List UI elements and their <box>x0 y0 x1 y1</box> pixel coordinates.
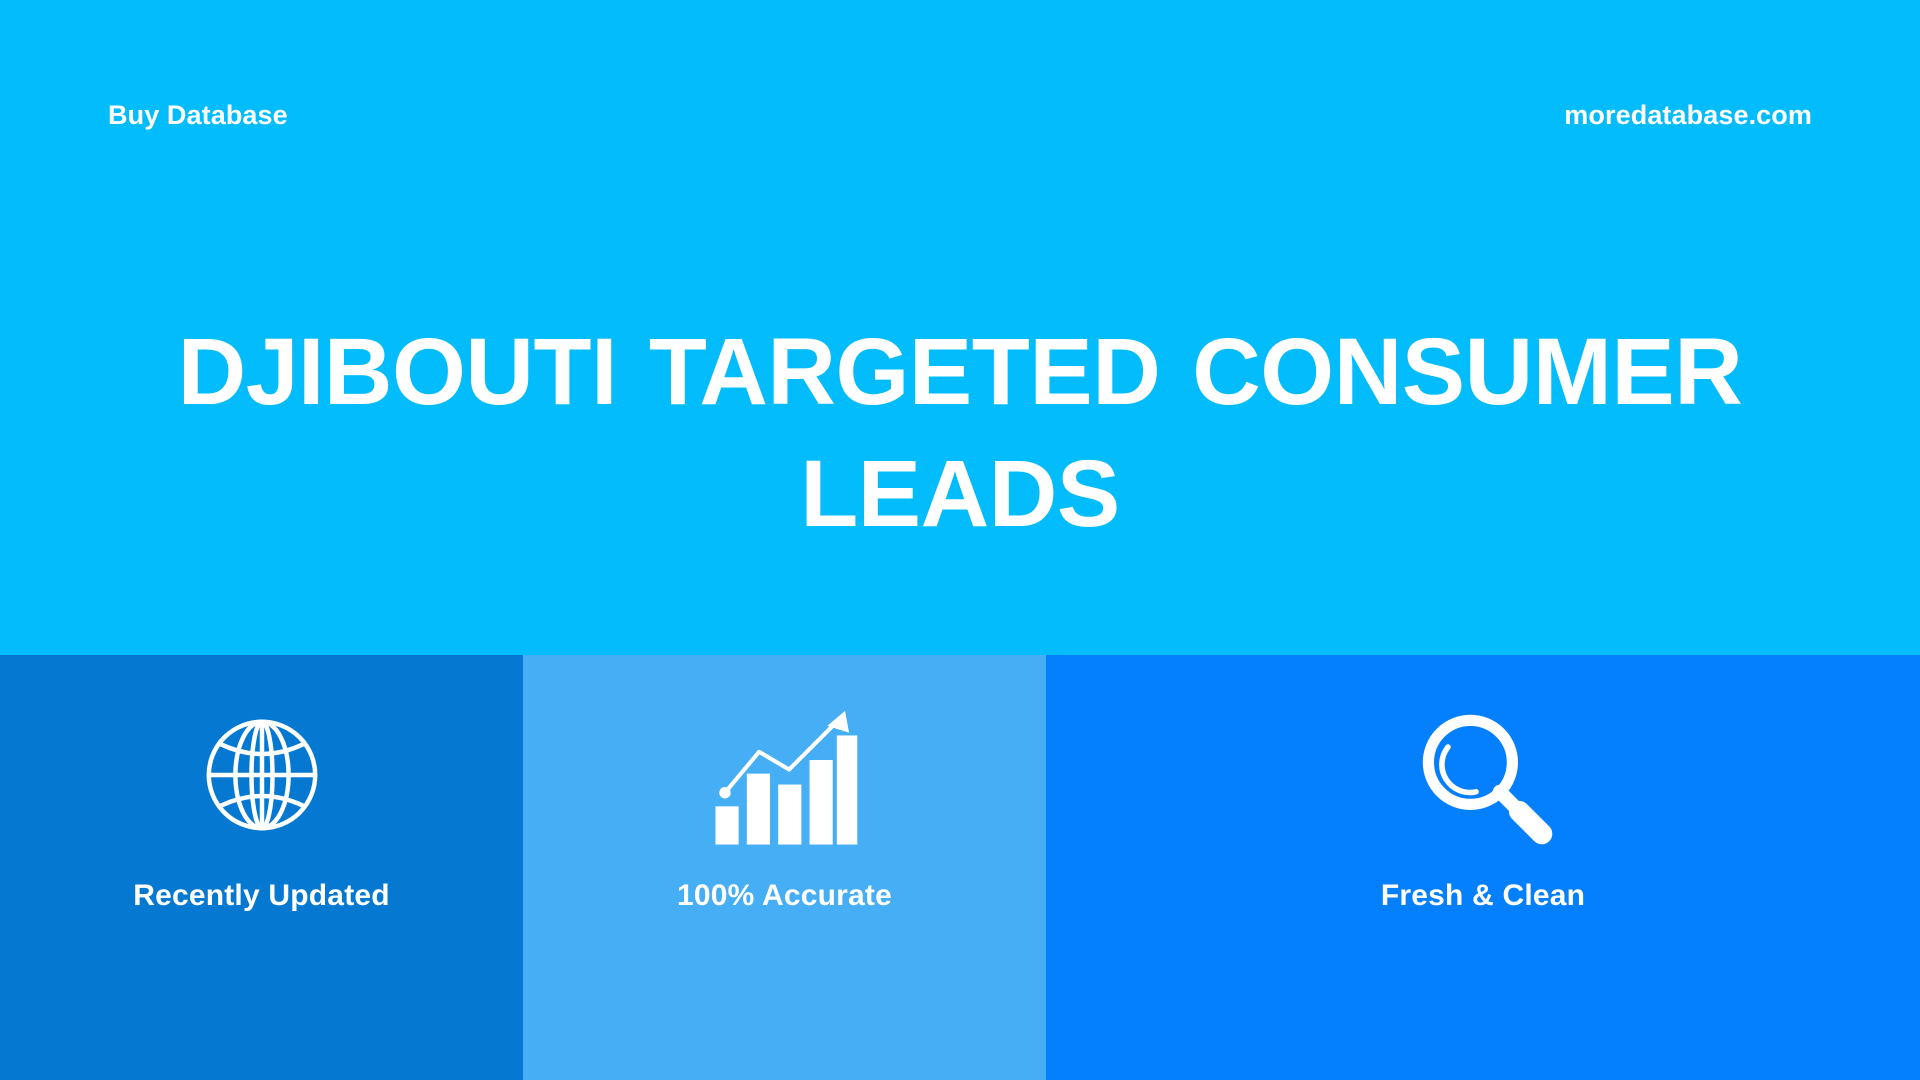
website-url[interactable]: moredatabase.com <box>1564 100 1812 131</box>
feature-label-accurate: 100% Accurate <box>677 879 892 913</box>
promo-banner: Buy Database moredatabase.com DJIBOUTI T… <box>0 0 1920 1080</box>
brand-name: Buy Database <box>108 100 288 131</box>
growth-chart-icon <box>710 705 860 845</box>
feature-label-recently-updated: Recently Updated <box>133 879 390 913</box>
feature-panels: Recently Updated <box>0 655 1920 1080</box>
feature-panel-fresh-clean[interactable]: Fresh & Clean <box>1046 655 1920 1080</box>
hero-topbar: Buy Database moredatabase.com <box>0 100 1920 131</box>
magnifier-icon <box>1413 705 1553 845</box>
feature-label-fresh-clean: Fresh & Clean <box>1381 879 1585 913</box>
hero-title-wrapper: DJIBOUTI TARGETED CONSUMER LEADS <box>0 312 1920 555</box>
globe-icon <box>192 705 332 845</box>
feature-panel-accurate[interactable]: 100% Accurate <box>523 655 1046 1080</box>
page-title: DJIBOUTI TARGETED CONSUMER LEADS <box>50 312 1870 555</box>
feature-panel-recently-updated[interactable]: Recently Updated <box>0 655 523 1080</box>
hero-section: Buy Database moredatabase.com DJIBOUTI T… <box>0 0 1920 655</box>
